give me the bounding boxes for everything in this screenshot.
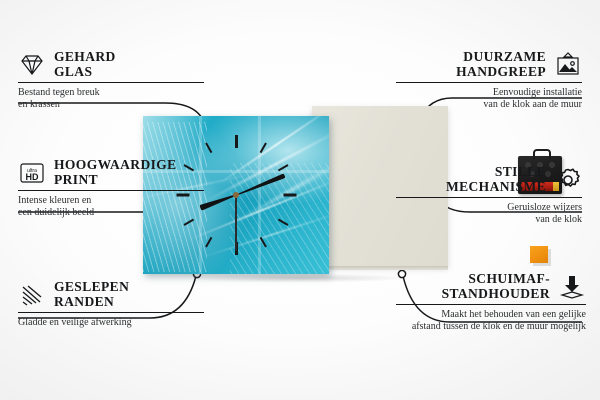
- feature-header: SCHUIMAF- STANDHOUDER: [396, 272, 586, 301]
- feature-subtitle-2: van de klok aan de muur: [396, 99, 582, 111]
- feature-title-2: RANDEN: [54, 295, 129, 310]
- feature-geslepen-randen: GESLEPEN RANDEN Gladde en veilige afwerk…: [18, 280, 204, 329]
- feature-header: GESLEPEN RANDEN: [18, 280, 204, 309]
- feature-subtitle-2: afstand tussen de klok en de muur mogeli…: [396, 321, 586, 333]
- feature-duurzame-handgreep: DUURZAME HANDGREEP Eenvoudige installati…: [396, 50, 582, 111]
- feature-title-2: STANDHOUDER: [442, 287, 550, 302]
- feature-subtitle-2: van de klok: [396, 214, 582, 226]
- feature-divider: [18, 190, 204, 191]
- feature-title: STILLE: [446, 165, 546, 180]
- picture-frame-icon: [554, 51, 582, 79]
- beveled-edges-icon: [18, 281, 46, 309]
- feature-header: ultra HD HOOGWAARDIGE PRINT: [18, 158, 204, 187]
- feature-title-2: HANDGREEP: [456, 65, 546, 80]
- feature-divider: [396, 197, 582, 198]
- feature-subtitle: Eenvoudige installatie: [396, 87, 582, 99]
- feature-subtitle: Bestand tegen breuk: [18, 87, 204, 99]
- feature-subtitle: Gladde en veilige afwerking: [18, 317, 204, 329]
- feature-hoogwaardige-print: ultra HD HOOGWAARDIGE PRINT Intense kleu…: [18, 158, 204, 219]
- feature-title-2: PRINT: [54, 173, 177, 188]
- feature-subtitle: Maakt het behouden van een gelijke: [396, 309, 586, 321]
- feature-divider: [396, 304, 586, 305]
- feature-title: SCHUIMAF-: [442, 272, 550, 287]
- hanging-hook-icon: [533, 149, 551, 159]
- foam-spacer-pad: [530, 246, 548, 263]
- feature-stille-mechanisme: STILLE MECHANISME Geruisloze wijzers van…: [396, 165, 582, 226]
- infographic-canvas: GEHARD GLAS Bestand tegen breuk en krass…: [0, 0, 600, 400]
- clock-second-hand: [235, 195, 237, 251]
- feature-subtitle: Geruisloze wijzers: [396, 202, 582, 214]
- feature-divider: [18, 312, 204, 313]
- feature-title: GEHARD: [54, 50, 116, 65]
- feature-header: DUURZAME HANDGREEP: [396, 50, 582, 79]
- gear-icon: [554, 166, 582, 194]
- feature-header: STILLE MECHANISME: [396, 165, 582, 194]
- svg-text:HD: HD: [26, 172, 39, 182]
- feature-subtitle: Intense kleuren en: [18, 195, 204, 207]
- press-down-pad-icon: [558, 273, 586, 301]
- feature-subtitle-2: een duidelijk beeld: [18, 207, 204, 219]
- feature-divider: [396, 82, 582, 83]
- feature-gehard-glas: GEHARD GLAS Bestand tegen breuk en krass…: [18, 50, 204, 111]
- feature-header: GEHARD GLAS: [18, 50, 204, 79]
- feature-title: DUURZAME: [456, 50, 546, 65]
- feature-subtitle-2: en krassen: [18, 99, 204, 111]
- feature-title-2: MECHANISME: [446, 180, 546, 195]
- feature-title-2: GLAS: [54, 65, 116, 80]
- feature-divider: [18, 82, 204, 83]
- clock-center-cap: [233, 192, 239, 198]
- diamond-icon: [18, 51, 46, 79]
- feature-title: GESLEPEN: [54, 280, 129, 295]
- feature-schuimafstandhouder: SCHUIMAF- STANDHOUDER Maakt het behouden…: [396, 272, 586, 333]
- feature-title: HOOGWAARDIGE: [54, 158, 177, 173]
- ultra-hd-icon: ultra HD: [18, 159, 46, 187]
